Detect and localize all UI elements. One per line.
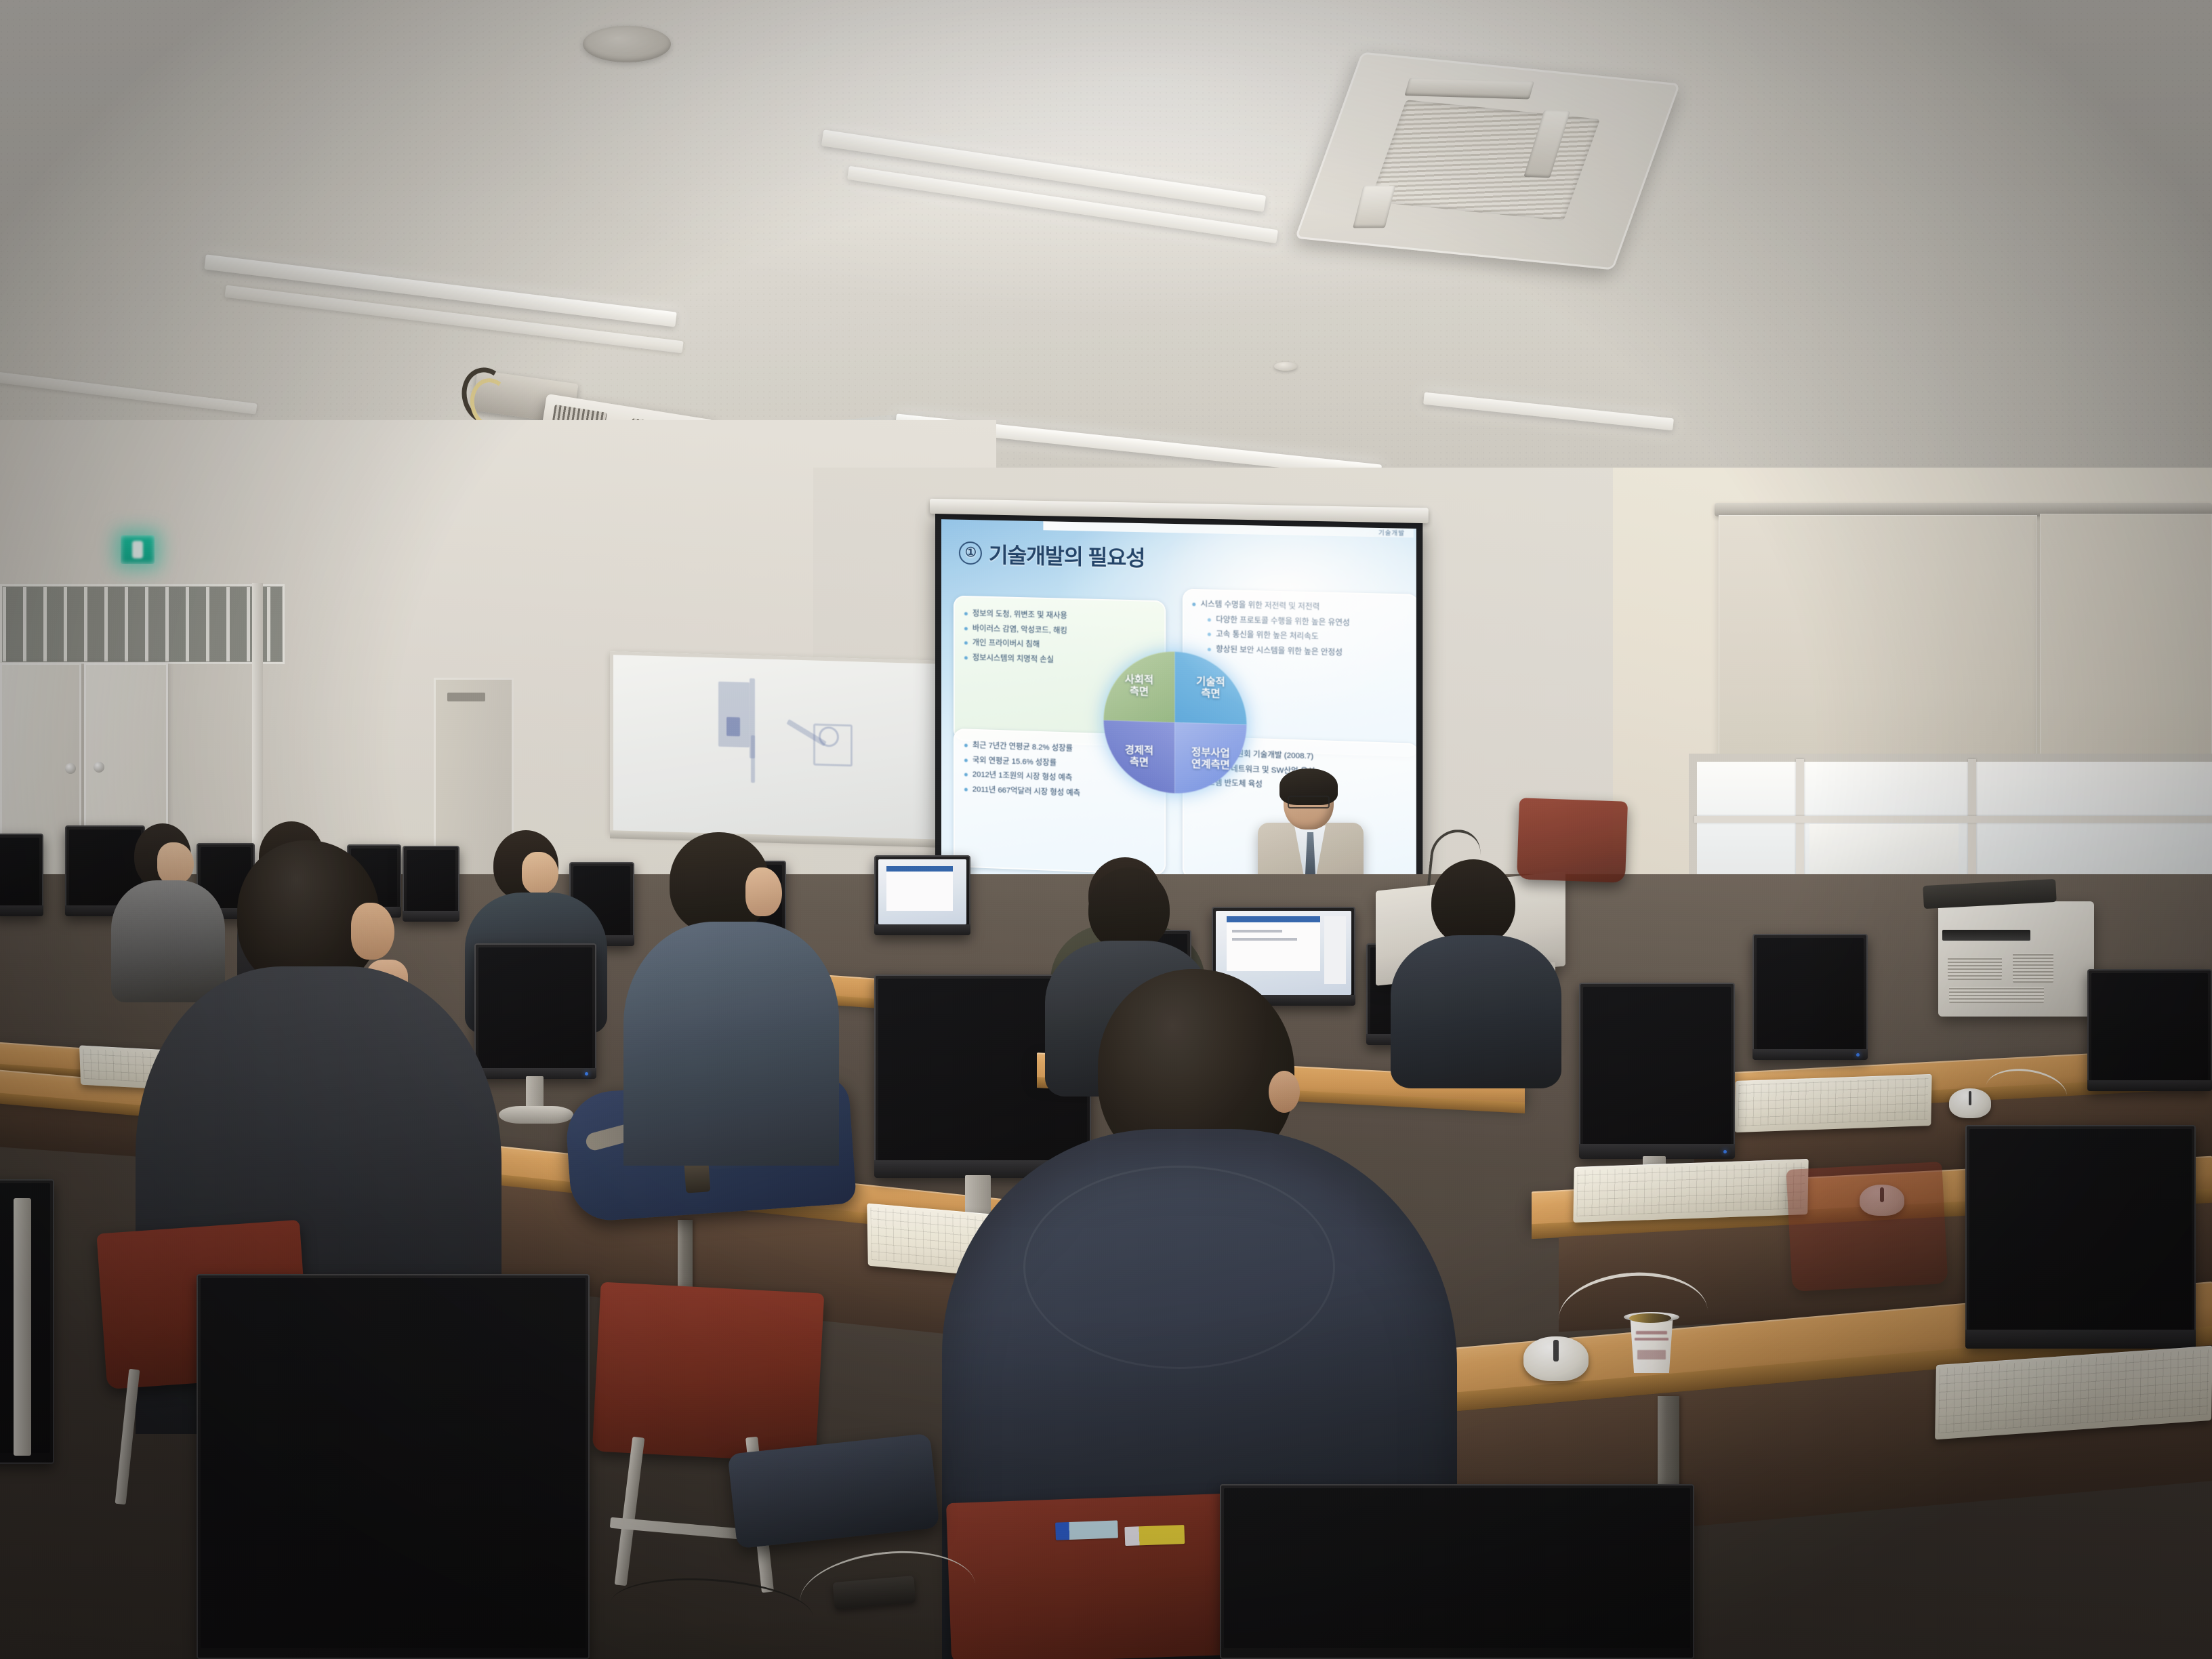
ac-vane <box>1353 186 1395 228</box>
venn-label-line1: 사회적 <box>1125 674 1153 687</box>
whiteboard <box>610 651 943 844</box>
monitor-base <box>499 1106 573 1124</box>
slide-bullet: 개인 프라이버시 침해 <box>963 637 1156 653</box>
printer[interactable] <box>1938 901 2094 1017</box>
slide-bullet: 시스템 수명을 위한 저전력 및 저전력 <box>1191 598 1410 615</box>
monitor <box>1220 1484 1694 1659</box>
monitor <box>197 1274 590 1659</box>
monitor-lit <box>874 855 970 935</box>
printer-vent <box>2013 953 2053 983</box>
monitor <box>1965 1125 2196 1349</box>
exit-sign <box>121 535 155 564</box>
asset-tag-yellow <box>1124 1525 1185 1546</box>
monitor <box>1753 934 1868 1060</box>
ceiling-speaker-icon <box>583 26 671 62</box>
slide-title-text: 기술개발의 필요성 <box>989 538 1145 572</box>
printer-vent <box>1949 987 2044 1003</box>
venn-label-line2: 측면 <box>1201 688 1220 700</box>
chair[interactable] <box>592 1282 825 1463</box>
student-torso <box>623 922 839 1166</box>
slide-bullet: 정보의 도청, 위변조 및 재사용 <box>963 608 1156 624</box>
monitor <box>1579 983 1735 1159</box>
student-face <box>351 903 394 960</box>
transom-window <box>0 584 285 664</box>
ac-vane <box>1404 78 1534 100</box>
monitor <box>0 834 43 916</box>
monitor <box>2087 969 2212 1091</box>
slide-header-tag: 기술개발 <box>1378 528 1405 537</box>
monitor-window-titlebar <box>886 866 953 872</box>
door-sign <box>447 693 485 701</box>
slide-bullet: 고속 통신을 위한 높은 처리속도 <box>1206 628 1411 645</box>
monitor-window-text-line <box>1232 938 1297 941</box>
monitor <box>474 943 596 1079</box>
slide-bullet: 향상된 보안 시스템을 위한 높은 안정성 <box>1206 643 1411 660</box>
ceiling-air-conditioner <box>1295 52 1681 270</box>
paper-cup-trash <box>1629 1313 1671 1323</box>
printer-vent <box>1948 957 2002 980</box>
chair[interactable] <box>1786 1162 1948 1292</box>
student-mid-left <box>637 832 827 1158</box>
smoke-detector-icon <box>1274 362 1297 371</box>
slide-title: ① 기술개발의 필요성 <box>959 537 1145 572</box>
student-head <box>1431 859 1515 946</box>
monitor-window-text-line <box>1232 930 1282 933</box>
window-mullion <box>1694 816 2212 823</box>
student-head <box>1088 867 1170 951</box>
venn-label-line2: 연계측면 <box>1191 758 1230 771</box>
presenter-glasses-icon <box>1288 796 1330 808</box>
monitor-bezel-highlight <box>14 1198 31 1456</box>
student-face <box>745 867 782 916</box>
classroom-photo: 기술개발 ① 기술개발의 필요성 정보의 도청, 위변조 및 재사용 바이러스 … <box>0 0 2212 1659</box>
venn-label-line2: 측면 <box>1130 756 1149 769</box>
venn-label-line2: 측면 <box>1130 686 1149 698</box>
keyboard[interactable] <box>1573 1159 1808 1223</box>
monitor-window-titlebar <box>1227 916 1320 922</box>
student-face <box>522 852 558 894</box>
door-knob-icon[interactable] <box>94 762 104 773</box>
paper-cup[interactable] <box>1626 1315 1677 1373</box>
hoodie-hood-seam <box>1023 1166 1335 1369</box>
slide-bullet: 바이러스 감염, 악성코드, 해킹 <box>963 623 1156 639</box>
monitor-window-body <box>886 872 953 911</box>
slide-header-bar <box>1043 521 1413 537</box>
asset-tag-blue <box>1055 1520 1118 1540</box>
chair[interactable] <box>1517 798 1628 883</box>
venn-label-line1: 기술적 <box>1196 676 1225 689</box>
venn-label-line1: 경제적 <box>1125 745 1153 757</box>
slide-bullet: 2011년 667억달러 시장 형성 예측 <box>963 783 1156 802</box>
student-ear <box>1269 1071 1300 1113</box>
mouse[interactable] <box>1949 1088 1991 1118</box>
slide-bullet: 정보시스템의 치명적 손실 <box>963 652 1156 669</box>
door-knob-icon[interactable] <box>65 763 76 774</box>
slide-number: ① <box>959 541 982 565</box>
slide-bullet: 다양한 프로토콜 수행을 위한 높은 유연성 <box>1206 614 1411 631</box>
printer-output-tray <box>1942 930 2030 941</box>
keyboard[interactable] <box>1734 1074 1931 1132</box>
